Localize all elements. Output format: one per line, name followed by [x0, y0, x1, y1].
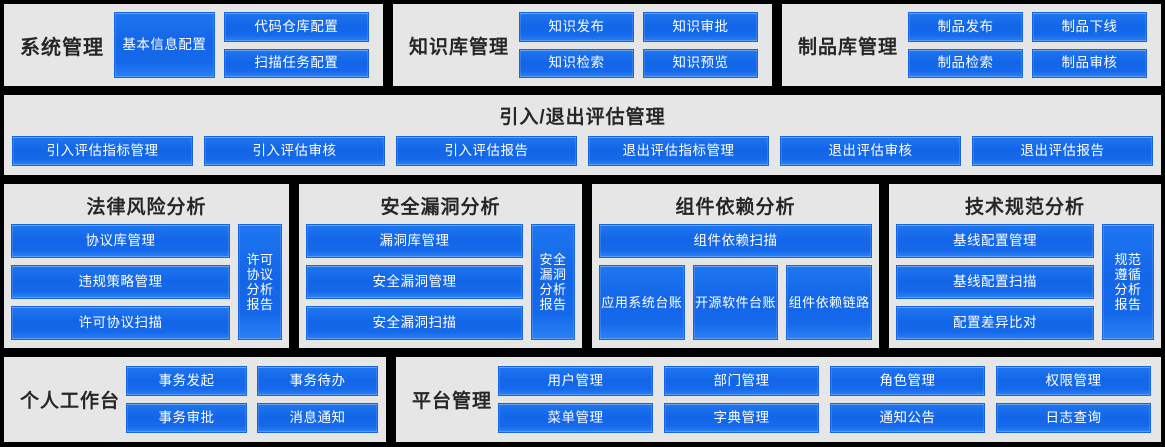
panel-title-legal-risk-analysis: 法律风险分析 [11, 187, 282, 222]
panel-title-knowledge-base-management: 知识库管理 [401, 32, 509, 59]
button-artifact-search[interactable]: 制品检索 [908, 49, 1023, 79]
button-artifact-offline[interactable]: 制品下线 [1032, 12, 1147, 42]
panel-knowledge-base-management: 知识库管理 知识发布 知识审批 知识检索 知识预览 [391, 2, 774, 88]
button-role-management[interactable]: 角色管理 [830, 366, 985, 396]
legal-risk-report-column: 许可协议分析报告 [238, 224, 282, 340]
knowledge-base-button-grid: 知识发布 知识审批 知识检索 知识预览 [519, 4, 764, 86]
security-vulnerability-report-column: 安全漏洞分析报告 [531, 224, 575, 340]
component-dependency-body: 组件依赖扫描 应用系统台账 开源软件台账 组件依赖链路 [599, 222, 872, 340]
personal-workbench-button-grid: 事务发起 事务待办 事务审批 消息通知 [126, 357, 380, 442]
artifact-repository-button-grid: 制品发布 制品下线 制品检索 制品审核 [908, 4, 1153, 86]
panel-introduction-exit-evaluation: 引入/退出评估管理 引入评估指标管理 引入评估审核 引入评估报告 退出评估指标管… [2, 93, 1163, 177]
panel-title-component-dependency-analysis: 组件依赖分析 [599, 187, 872, 222]
panel-system-management: 系统管理 基本信息配置 代码仓库配置 扫描任务配置 [2, 2, 385, 88]
technical-specification-button-column: 基线配置管理 基线配置扫描 配置差异比对 [896, 224, 1094, 340]
platform-management-button-grid: 用户管理 部门管理 角色管理 权限管理 菜单管理 字典管理 通知公告 日志查询 [498, 357, 1153, 442]
panel-title-personal-workbench: 个人工作台 [10, 386, 120, 413]
button-knowledge-approval[interactable]: 知识审批 [643, 12, 758, 42]
button-knowledge-search[interactable]: 知识检索 [519, 49, 634, 79]
button-code-repo-config[interactable]: 代码仓库配置 [224, 12, 369, 42]
panel-security-vulnerability-analysis: 安全漏洞分析 漏洞库管理 安全漏洞管理 安全漏洞扫描 安全漏洞分析报告 [297, 182, 584, 350]
legal-risk-body: 协议库管理 违规策略管理 许可协议扫描 许可协议分析报告 [11, 222, 282, 340]
button-intro-eval-review[interactable]: 引入评估审核 [204, 136, 385, 166]
panel-title-introduction-exit-evaluation: 引入/退出评估管理 [10, 99, 1155, 131]
button-security-vulnerability-analysis-report[interactable]: 安全漏洞分析报告 [531, 224, 575, 340]
button-task-initiate[interactable]: 事务发起 [126, 366, 247, 396]
button-violation-policy-management[interactable]: 违规策略管理 [11, 265, 230, 299]
button-license-analysis-report[interactable]: 许可协议分析报告 [238, 224, 282, 340]
button-task-approval[interactable]: 事务审批 [126, 403, 247, 433]
button-artifact-review[interactable]: 制品审核 [1032, 49, 1147, 79]
button-license-agreement-scan[interactable]: 许可协议扫描 [11, 306, 230, 340]
button-config-difference-comparison[interactable]: 配置差异比对 [896, 306, 1094, 340]
button-task-todo[interactable]: 事务待办 [257, 366, 378, 396]
panel-title-artifact-repository-management: 制品库管理 [790, 32, 898, 59]
button-baseline-config-management[interactable]: 基线配置管理 [896, 224, 1094, 258]
technical-specification-report-column: 规范遵循分析报告 [1102, 224, 1154, 340]
dashboard-root: 系统管理 基本信息配置 代码仓库配置 扫描任务配置 知识库管理 知识发布 知识审… [0, 0, 1165, 447]
button-license-library-management[interactable]: 协议库管理 [11, 224, 230, 258]
button-notice-announcement[interactable]: 通知公告 [830, 403, 985, 433]
button-dictionary-management[interactable]: 字典管理 [664, 403, 819, 433]
button-open-source-software-ledger[interactable]: 开源软件台账 [693, 265, 779, 340]
button-baseline-config-scan[interactable]: 基线配置扫描 [896, 265, 1094, 299]
panel-artifact-repository-management: 制品库管理 制品发布 制品下线 制品检索 制品审核 [780, 2, 1163, 88]
button-basic-info-config[interactable]: 基本信息配置 [114, 12, 215, 78]
button-security-vulnerability-scan[interactable]: 安全漏洞扫描 [306, 306, 523, 340]
button-specification-compliance-analysis-report[interactable]: 规范遵循分析报告 [1102, 224, 1154, 340]
button-intro-eval-metric-management[interactable]: 引入评估指标管理 [12, 136, 193, 166]
security-vulnerability-button-column: 漏洞库管理 安全漏洞管理 安全漏洞扫描 [306, 224, 523, 340]
evaluation-button-row: 引入评估指标管理 引入评估审核 引入评估报告 退出评估指标管理 退出评估审核 退… [10, 131, 1155, 167]
button-intro-eval-report[interactable]: 引入评估报告 [396, 136, 577, 166]
legal-risk-button-column: 协议库管理 违规策略管理 许可协议扫描 [11, 224, 230, 340]
button-message-notification[interactable]: 消息通知 [257, 403, 378, 433]
button-menu-management[interactable]: 菜单管理 [498, 403, 653, 433]
button-exit-eval-metric-management[interactable]: 退出评估指标管理 [588, 136, 769, 166]
button-component-dependency-scan[interactable]: 组件依赖扫描 [599, 224, 872, 258]
component-dependency-button-column: 组件依赖扫描 应用系统台账 开源软件台账 组件依赖链路 [599, 224, 872, 340]
row-analysis: 法律风险分析 协议库管理 违规策略管理 许可协议扫描 许可协议分析报告 安全漏洞… [2, 182, 1163, 350]
button-application-system-ledger[interactable]: 应用系统台账 [599, 265, 685, 340]
button-knowledge-preview[interactable]: 知识预览 [643, 49, 758, 79]
panel-legal-risk-analysis: 法律风险分析 协议库管理 违规策略管理 许可协议扫描 许可协议分析报告 [2, 182, 291, 350]
panel-technical-specification-analysis: 技术规范分析 基线配置管理 基线配置扫描 配置差异比对 规范遵循分析报告 [887, 182, 1163, 350]
panel-title-system-management: 系统管理 [12, 31, 104, 60]
panel-title-platform-management: 平台管理 [404, 386, 492, 413]
button-exit-eval-review[interactable]: 退出评估审核 [780, 136, 961, 166]
technical-specification-body: 基线配置管理 基线配置扫描 配置差异比对 规范遵循分析报告 [896, 222, 1154, 340]
button-vulnerability-library-management[interactable]: 漏洞库管理 [306, 224, 523, 258]
row-evaluation: 引入/退出评估管理 引入评估指标管理 引入评估审核 引入评估报告 退出评估指标管… [2, 93, 1163, 177]
button-department-management[interactable]: 部门管理 [664, 366, 819, 396]
button-security-vulnerability-management[interactable]: 安全漏洞管理 [306, 265, 523, 299]
button-artifact-publish[interactable]: 制品发布 [908, 12, 1023, 42]
button-log-query[interactable]: 日志查询 [996, 403, 1151, 433]
button-permission-management[interactable]: 权限管理 [996, 366, 1151, 396]
button-scan-task-config[interactable]: 扫描任务配置 [224, 49, 369, 79]
row-bottom: 个人工作台 事务发起 事务待办 事务审批 消息通知 平台管理 用户管理 部门管理… [2, 355, 1163, 444]
component-dependency-sub-row: 应用系统台账 开源软件台账 组件依赖链路 [599, 265, 872, 340]
system-management-button-grid: 基本信息配置 代码仓库配置 扫描任务配置 [114, 4, 375, 86]
security-vulnerability-body: 漏洞库管理 安全漏洞管理 安全漏洞扫描 安全漏洞分析报告 [306, 222, 575, 340]
panel-platform-management: 平台管理 用户管理 部门管理 角色管理 权限管理 菜单管理 字典管理 通知公告 … [394, 355, 1163, 444]
button-user-management[interactable]: 用户管理 [498, 366, 653, 396]
row-top: 系统管理 基本信息配置 代码仓库配置 扫描任务配置 知识库管理 知识发布 知识审… [2, 2, 1163, 88]
panel-title-technical-specification-analysis: 技术规范分析 [896, 187, 1154, 222]
button-knowledge-publish[interactable]: 知识发布 [519, 12, 634, 42]
button-exit-eval-report[interactable]: 退出评估报告 [972, 136, 1153, 166]
button-component-dependency-chain[interactable]: 组件依赖链路 [786, 265, 872, 340]
panel-title-security-vulnerability-analysis: 安全漏洞分析 [306, 187, 575, 222]
panel-component-dependency-analysis: 组件依赖分析 组件依赖扫描 应用系统台账 开源软件台账 组件依赖链路 [590, 182, 881, 350]
panel-personal-workbench: 个人工作台 事务发起 事务待办 事务审批 消息通知 [2, 355, 388, 444]
